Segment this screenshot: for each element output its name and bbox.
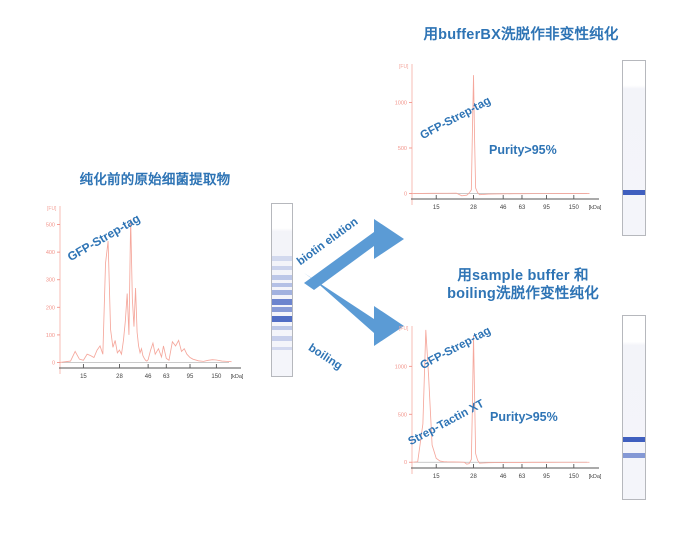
gel-band — [272, 316, 292, 322]
gel-band — [623, 190, 645, 195]
svg-text:[kDa]: [kDa] — [589, 474, 602, 480]
svg-text:63: 63 — [519, 474, 526, 480]
gel-lane-crude-bands — [272, 204, 292, 376]
svg-text:0: 0 — [52, 360, 55, 366]
crude-extract-chart: [FU]01002003004005001528466395150[kDa] — [38, 200, 243, 390]
svg-text:28: 28 — [470, 205, 477, 211]
svg-text:28: 28 — [470, 474, 477, 480]
svg-text:15: 15 — [80, 374, 87, 380]
svg-text:95: 95 — [187, 374, 194, 380]
native-purification-plot: [FU]050010001528466395150[kDa] — [388, 58, 603, 221]
svg-text:95: 95 — [543, 474, 550, 480]
top-right-chart-title: 用bufferBX洗脱作非变性纯化 — [392, 26, 650, 44]
gel-lane-denatured-purified — [622, 315, 646, 500]
crude-extract-plot: [FU]01002003004005001528466395150[kDa] — [38, 200, 243, 390]
svg-text:[kDa]: [kDa] — [231, 374, 243, 380]
gel-lane-native-purified — [622, 60, 646, 236]
svg-text:150: 150 — [211, 374, 222, 380]
svg-text:200: 200 — [46, 305, 55, 311]
svg-text:1000: 1000 — [395, 364, 407, 370]
svg-text:15: 15 — [433, 205, 440, 211]
svg-text:28: 28 — [116, 374, 123, 380]
svg-text:500: 500 — [398, 412, 407, 418]
gel-band — [272, 336, 292, 340]
svg-text:[FU]: [FU] — [399, 326, 409, 332]
gel-band — [272, 290, 292, 295]
svg-text:[kDa]: [kDa] — [589, 205, 602, 211]
svg-text:15: 15 — [433, 474, 440, 480]
svg-text:400: 400 — [46, 250, 55, 256]
svg-text:63: 63 — [163, 374, 170, 380]
svg-text:[FU]: [FU] — [47, 206, 57, 212]
gel-band — [623, 453, 645, 458]
gel-band — [272, 307, 292, 312]
gel-lane-denatured-bands — [623, 316, 645, 499]
gel-lane-crude-extract — [271, 203, 293, 377]
svg-text:500: 500 — [398, 146, 407, 152]
gel-band — [623, 437, 645, 442]
purity-label-top-right: Purity>95% — [489, 143, 557, 157]
purity-label-bottom-right: Purity>95% — [490, 410, 558, 424]
svg-text:500: 500 — [46, 223, 55, 229]
svg-text:[FU]: [FU] — [399, 64, 409, 70]
bottom-right-title-line1: 用sample buffer 和 — [398, 267, 648, 285]
svg-text:63: 63 — [519, 205, 526, 211]
svg-text:46: 46 — [500, 205, 507, 211]
svg-text:0: 0 — [404, 192, 407, 198]
native-purification-chart: [FU]050010001528466395150[kDa] — [388, 58, 603, 221]
svg-text:150: 150 — [569, 205, 580, 211]
denaturing-purification-chart: [FU]050010001528466395150[kDa] — [388, 320, 603, 492]
left-chart-title: 纯化前的原始细菌提取物 — [55, 172, 255, 189]
svg-text:1000: 1000 — [395, 100, 407, 106]
gel-band — [272, 283, 292, 287]
gel-lane-native-bands — [623, 61, 645, 235]
svg-text:300: 300 — [46, 278, 55, 284]
gel-band — [272, 256, 292, 261]
gel-band — [272, 266, 292, 270]
bottom-right-title-line2: boiling洗脱作变性纯化 — [398, 285, 648, 303]
gel-band — [272, 347, 292, 350]
gel-band — [272, 299, 292, 305]
svg-text:100: 100 — [46, 333, 55, 339]
svg-text:150: 150 — [569, 474, 580, 480]
denaturing-purification-plot: [FU]050010001528466395150[kDa] — [388, 320, 603, 492]
gel-band — [272, 275, 292, 280]
bottom-right-chart-title: 用sample buffer 和 boiling洗脱作变性纯化 — [398, 267, 648, 303]
svg-text:46: 46 — [145, 374, 152, 380]
svg-text:95: 95 — [543, 205, 550, 211]
gel-band — [272, 326, 292, 330]
svg-text:46: 46 — [500, 474, 507, 480]
svg-text:0: 0 — [404, 460, 407, 466]
